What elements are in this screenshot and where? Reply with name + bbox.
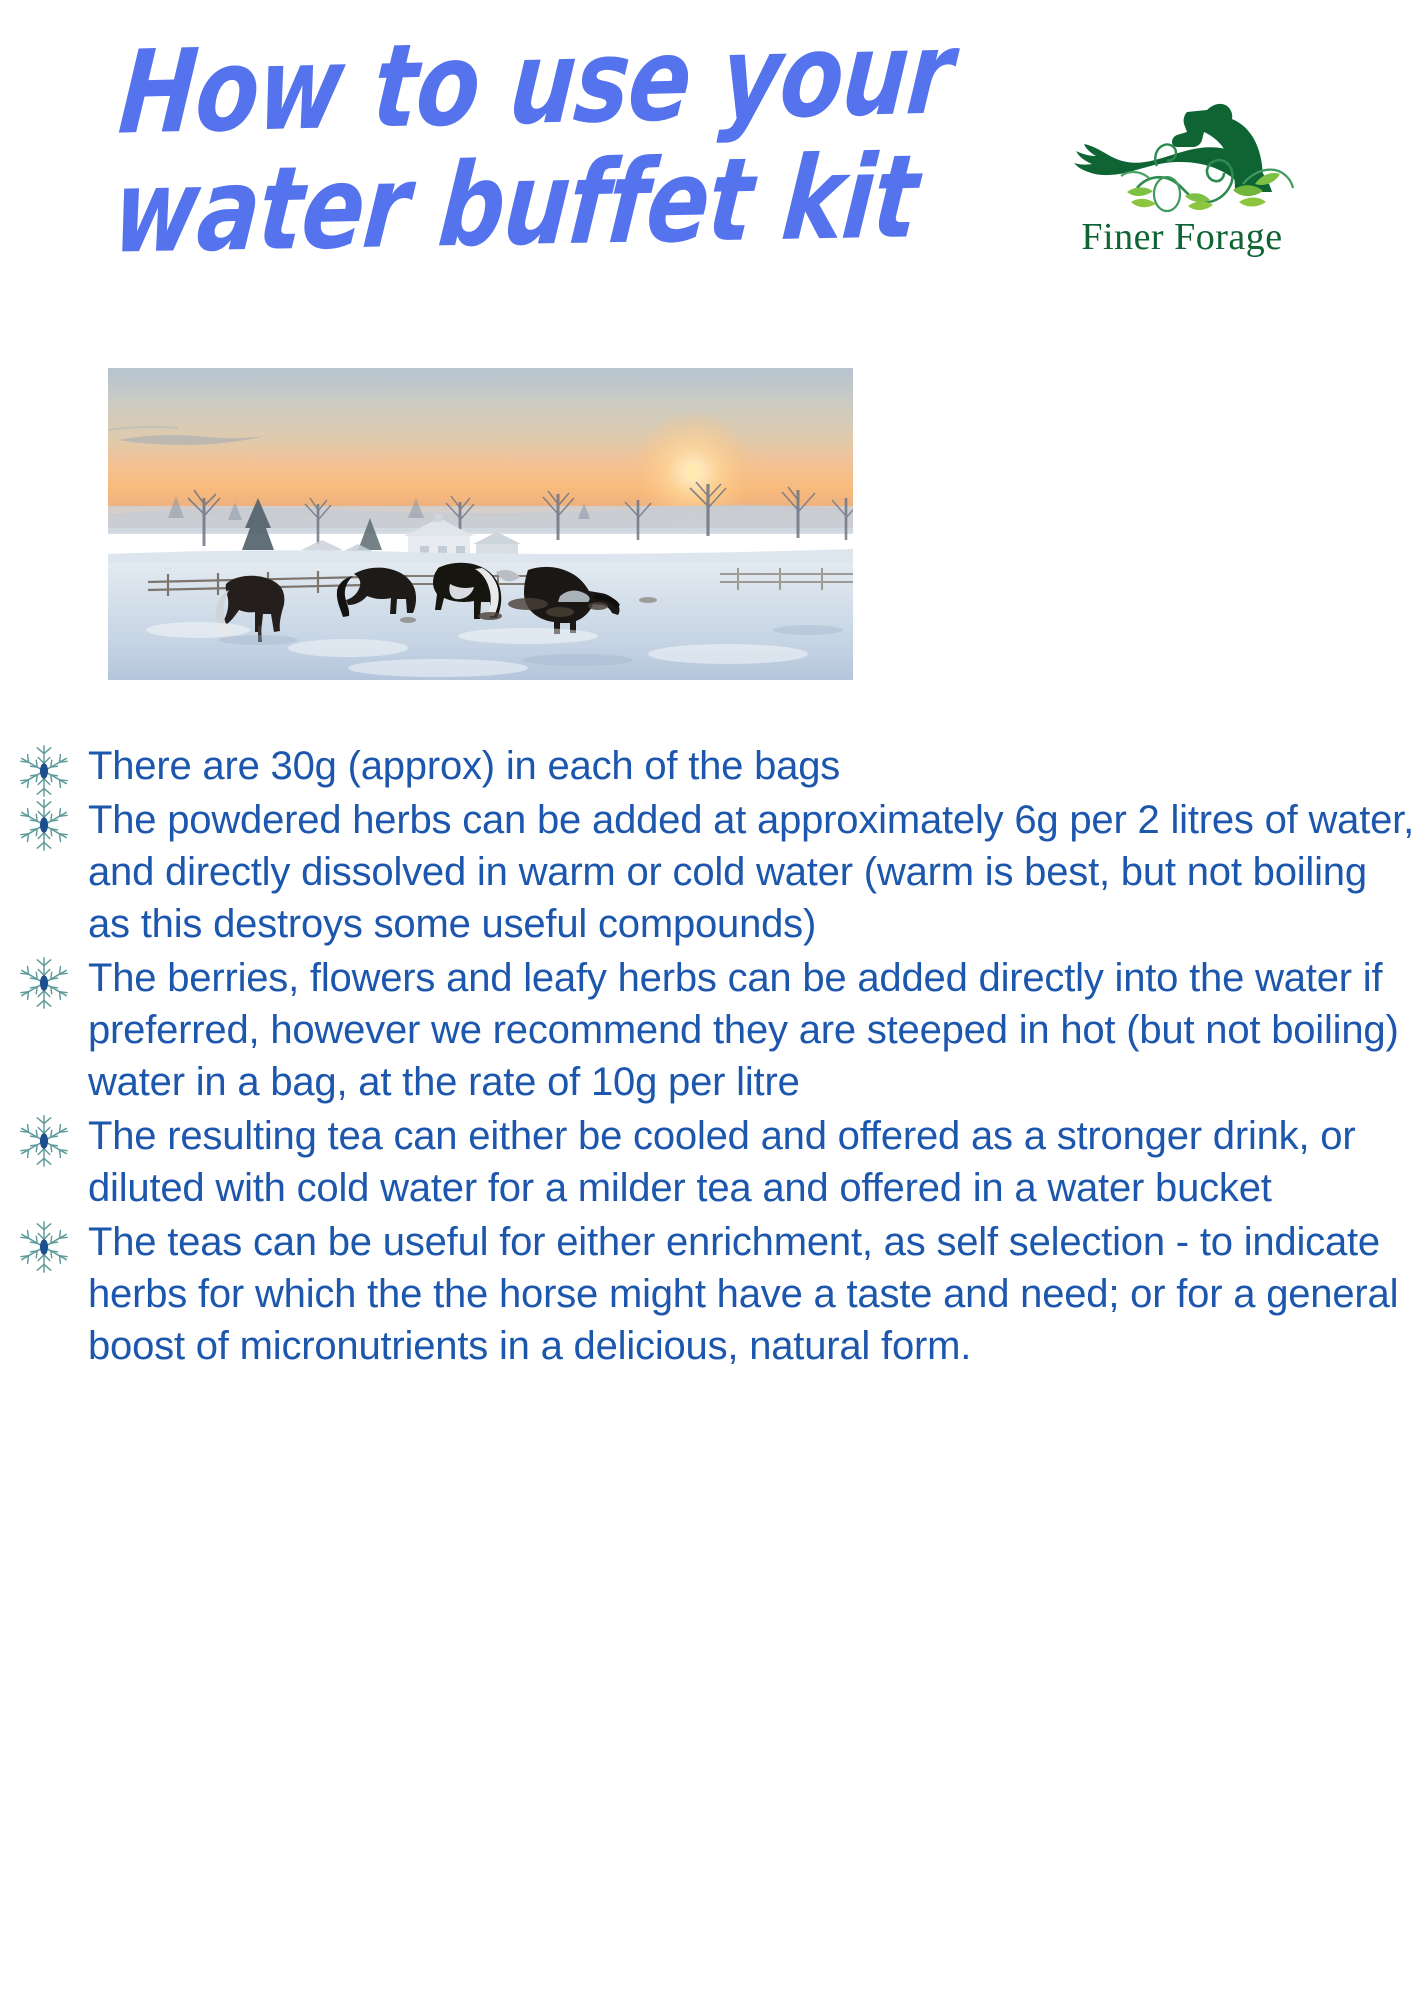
page-title-line-1: How to use your xyxy=(116,22,926,147)
snowflake-icon xyxy=(8,954,80,1012)
brand-logo: Finer Forage xyxy=(1042,96,1322,268)
list-item: The resulting tea can either be cooled a… xyxy=(0,1110,1414,1214)
page-title: How to use your water buffet kit xyxy=(120,52,920,255)
list-item: The berries, flowers and leafy herbs can… xyxy=(0,952,1414,1108)
list-item: There are 30g (approx) in each of the ba… xyxy=(0,740,1414,792)
list-item-text: The berries, flowers and leafy herbs can… xyxy=(88,952,1414,1108)
list-item: The teas can be useful for either enrich… xyxy=(0,1216,1414,1372)
page-header: How to use your water buffet kit Finer F… xyxy=(0,0,1414,350)
list-item-text: There are 30g (approx) in each of the ba… xyxy=(88,740,1414,792)
page-title-line-2: water buffet kit xyxy=(109,145,926,266)
list-item: The powdered herbs can be added at appro… xyxy=(0,794,1414,950)
list-item-text: The resulting tea can either be cooled a… xyxy=(88,1110,1414,1214)
list-item-text: The powdered herbs can be added at appro… xyxy=(88,794,1414,950)
hero-photo xyxy=(108,368,853,680)
instructions-section: There are 30g (approx) in each of the ba… xyxy=(0,740,1414,1374)
snowflake-icon xyxy=(8,1218,80,1276)
snowflake-icon xyxy=(8,1112,80,1170)
horse-with-foliage-icon xyxy=(1057,96,1307,216)
winter-horses-sunrise-image xyxy=(108,368,853,680)
list-item-text: The teas can be useful for either enrich… xyxy=(88,1216,1414,1372)
brand-name: Finer Forage xyxy=(1042,218,1322,256)
instruction-list: There are 30g (approx) in each of the ba… xyxy=(0,740,1414,1372)
snowflake-icon xyxy=(8,742,80,800)
snowflake-icon xyxy=(8,796,80,854)
